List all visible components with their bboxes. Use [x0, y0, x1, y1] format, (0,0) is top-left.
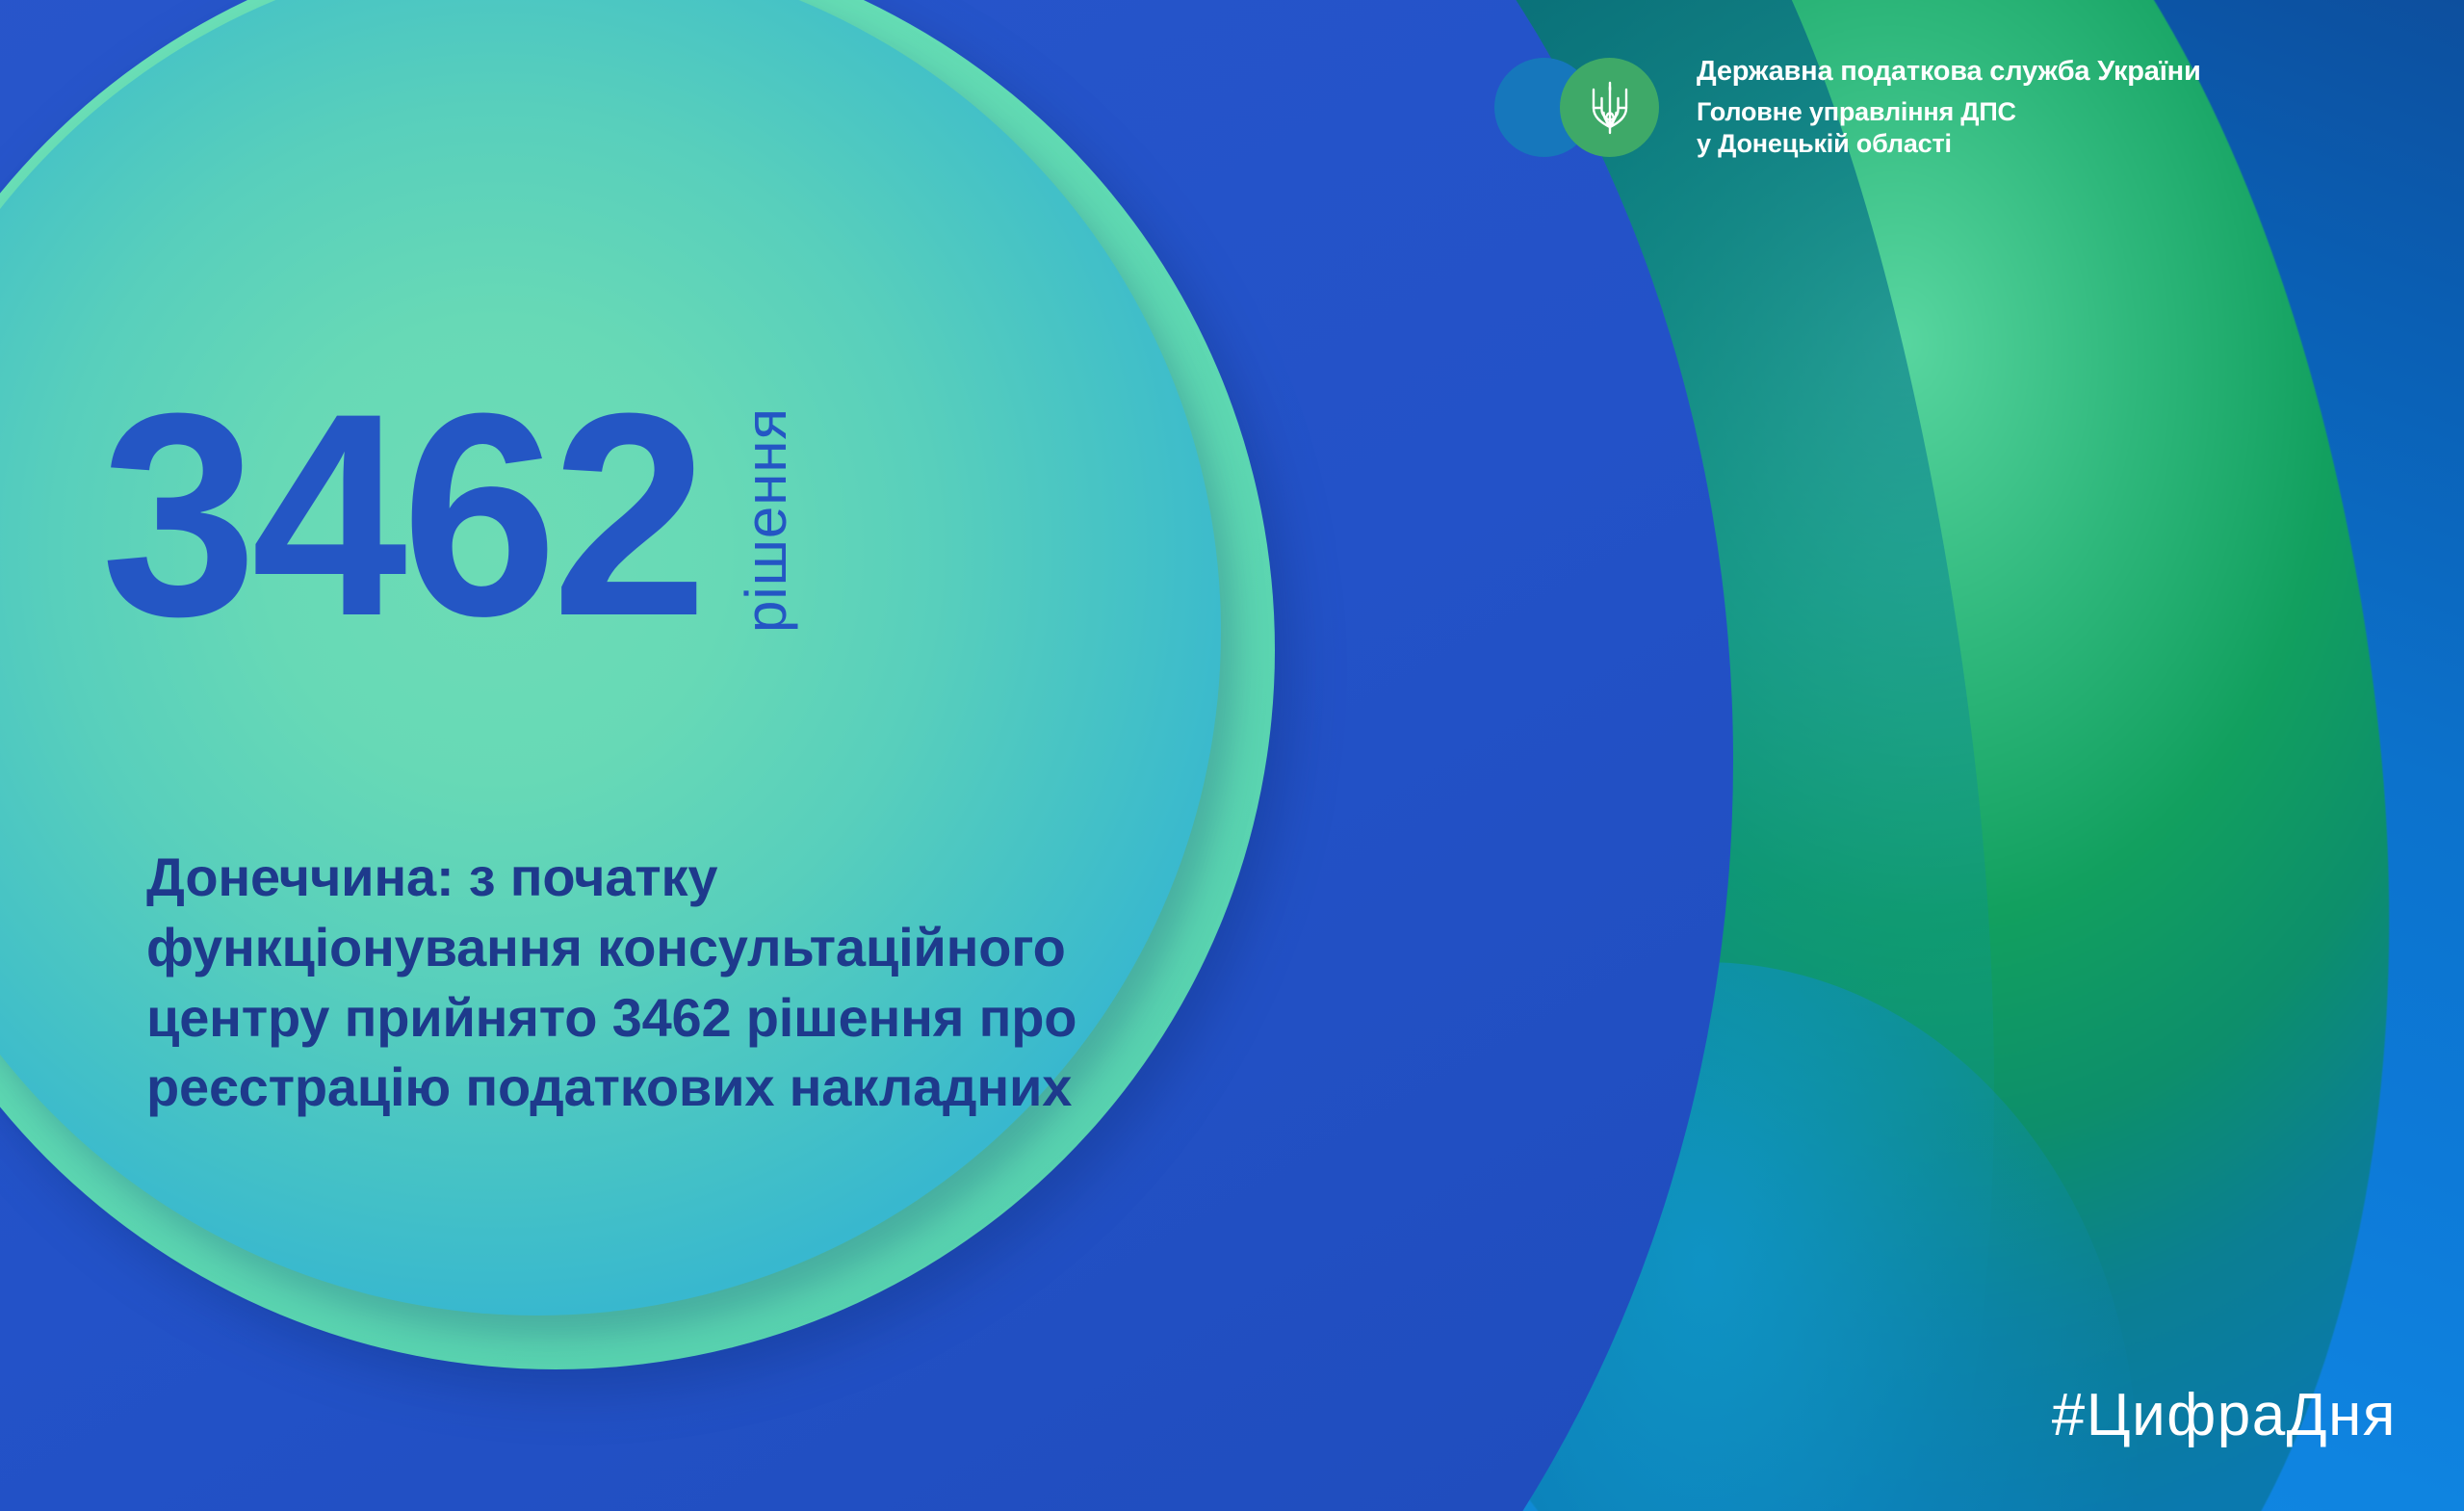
body-text: Донеччина: з початку функціонування конс…	[146, 843, 1128, 1123]
highlight-unit-vertical: рішення	[738, 407, 795, 633]
org-name-block: Державна податкова служба України Головн…	[1697, 55, 2201, 159]
org-line-1: Державна податкова служба України	[1697, 55, 2201, 88]
logo-marks	[1494, 50, 1677, 164]
infographic-poster: 3462 рішення Донеччина: з початку функці…	[0, 0, 2464, 1511]
green-circle-icon	[1560, 58, 1659, 157]
left-content-area: 3462 рішення Донеччина: з початку функці…	[0, 0, 1252, 1511]
tryzub-icon	[1588, 78, 1632, 138]
highlight-number: 3462	[101, 390, 702, 638]
logo-lockup: Державна податкова служба України Головн…	[1494, 50, 2201, 164]
org-line-2: Головне управління ДПС	[1697, 96, 2201, 127]
highlight-number-row: 3462 рішення	[101, 390, 795, 638]
org-line-3: у Донецькій області	[1697, 128, 2201, 159]
hashtag: #ЦифраДня	[2052, 1386, 2397, 1446]
